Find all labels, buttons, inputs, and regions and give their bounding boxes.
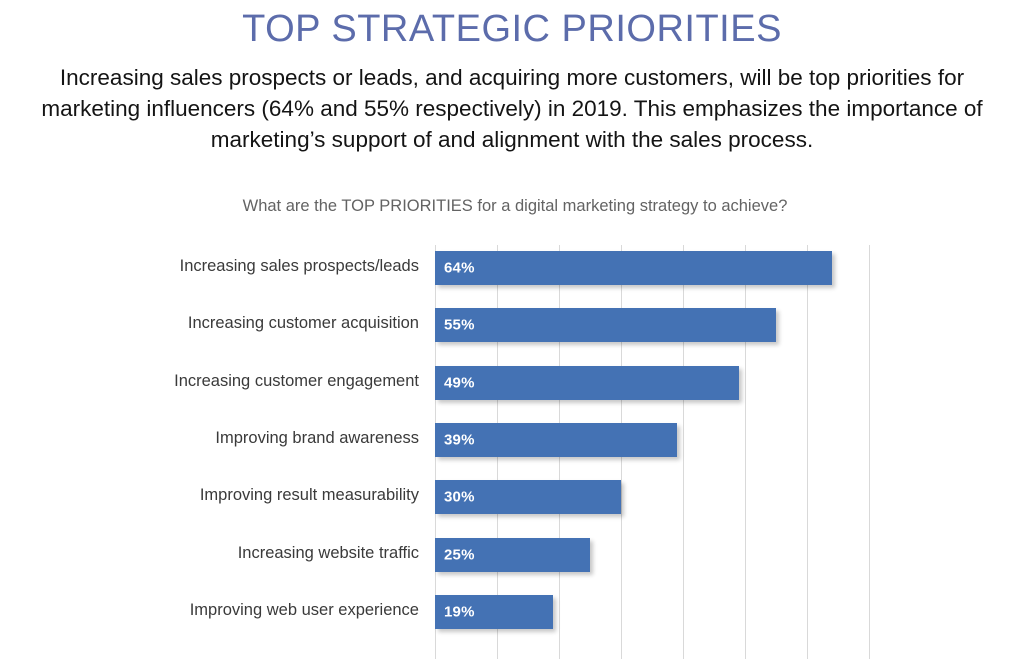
chart-categories-and-bars: Increasing sales prospects/leads64%Incre… <box>0 245 435 659</box>
bar-value-label: 25% <box>444 546 475 563</box>
bar[interactable]: 30% <box>435 480 621 514</box>
category-label: Increasing customer engagement <box>0 372 419 391</box>
bar-value-label: 64% <box>444 260 475 277</box>
bar-row: 55% <box>435 308 869 342</box>
category-label: Improving result measurability <box>0 486 419 505</box>
bar-row: 64% <box>435 251 869 285</box>
category-label: Increasing sales prospects/leads <box>0 257 419 276</box>
bar-row: 25% <box>435 538 869 572</box>
bar[interactable]: 19% <box>435 595 553 629</box>
bar-value-label: 49% <box>444 374 475 391</box>
bar-row: 49% <box>435 366 869 400</box>
gridline <box>869 245 870 659</box>
category-label: Increasing customer acquisition <box>0 314 419 333</box>
bar[interactable]: 55% <box>435 308 776 342</box>
bar[interactable]: 39% <box>435 423 677 457</box>
chart-title: What are the TOP PRIORITIES for a digita… <box>232 194 798 218</box>
slide-title: TOP STRATEGIC PRIORITIES <box>0 8 1024 51</box>
bar-value-label: 39% <box>444 431 475 448</box>
chart-block: What are the TOP PRIORITIES for a digita… <box>0 190 1024 659</box>
category-label: Improving brand awareness <box>0 429 419 448</box>
slide-subtitle: Increasing sales prospects or leads, and… <box>22 62 1002 155</box>
bar-row: 30% <box>435 480 869 514</box>
bar-value-label: 19% <box>444 603 475 620</box>
bar[interactable]: 25% <box>435 538 590 572</box>
bar-row: 19% <box>435 595 869 629</box>
category-label: Increasing website traffic <box>0 544 419 563</box>
bar[interactable]: 64% <box>435 251 832 285</box>
bar-value-label: 30% <box>444 489 475 506</box>
category-label: Improving web user experience <box>0 601 419 620</box>
bar-value-label: 55% <box>444 317 475 334</box>
bar[interactable]: 49% <box>435 366 739 400</box>
bar-row: 39% <box>435 423 869 457</box>
